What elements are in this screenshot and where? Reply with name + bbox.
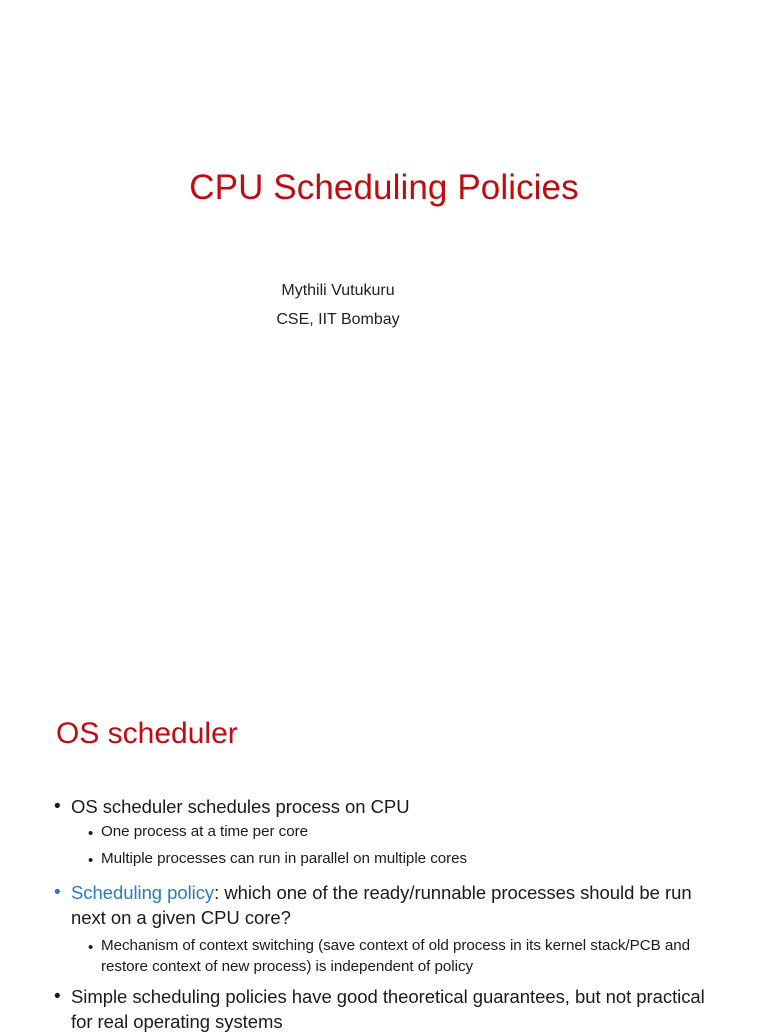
list-item: • One process at a time per core — [88, 821, 720, 846]
list-item-label: Scheduling policy: which one of the read… — [71, 880, 720, 930]
bullet-marker-icon: • — [88, 935, 101, 960]
author-block: Mythili Vutukuru CSE, IIT Bombay — [0, 276, 676, 334]
slide-heading: OS scheduler — [56, 714, 238, 754]
list-item: • Multiple processes can run in parallel… — [88, 848, 720, 873]
list-item-label: Mechanism of context switching (save con… — [101, 935, 720, 977]
list-item: • OS scheduler schedules process on CPU — [54, 794, 720, 819]
bullet-marker-icon: • — [88, 821, 101, 846]
list-item: • Simple scheduling policies have good t… — [54, 984, 720, 1034]
bullet-list: • OS scheduler schedules process on CPU … — [54, 790, 720, 1034]
slide-page: CPU Scheduling Policies Mythili Vutukuru… — [0, 0, 768, 1024]
scheduling-policy-term: Scheduling policy — [71, 882, 214, 903]
bullet-marker-icon: • — [54, 984, 71, 1009]
bullet-marker-icon: • — [54, 794, 71, 819]
list-item: • Mechanism of context switching (save c… — [88, 935, 720, 977]
bullet-marker-icon: • — [54, 880, 71, 905]
list-item-label: Simple scheduling policies have good the… — [71, 984, 720, 1034]
list-item-scheduling-policy: • Scheduling policy: which one of the re… — [54, 880, 720, 930]
title-slide: CPU Scheduling Policies — [0, 166, 768, 210]
list-item-label: OS scheduler schedules process on CPU — [71, 794, 720, 819]
list-item-label: Multiple processes can run in parallel o… — [101, 848, 720, 869]
list-item-label: One process at a time per core — [101, 821, 720, 842]
author-name: Mythili Vutukuru — [0, 276, 676, 305]
author-affiliation: CSE, IIT Bombay — [0, 305, 676, 334]
page-title: CPU Scheduling Policies — [0, 166, 768, 210]
bullet-marker-icon: • — [88, 848, 101, 873]
